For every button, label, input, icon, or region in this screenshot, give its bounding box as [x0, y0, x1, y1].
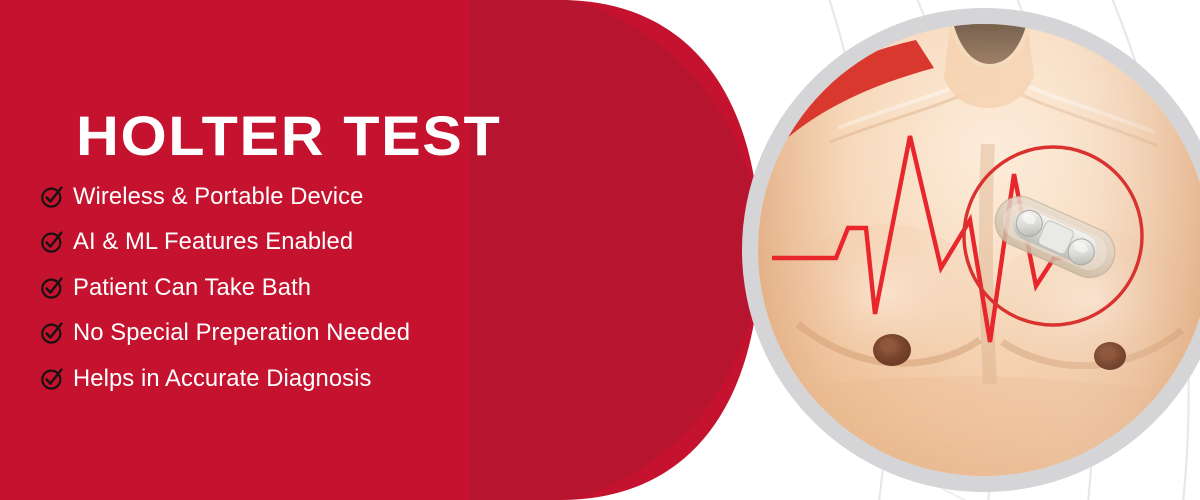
list-item-label: Patient Can Take Bath — [73, 274, 311, 302]
list-item: AI & ML Features Enabled — [40, 220, 600, 266]
check-circle-icon — [40, 185, 64, 209]
patient-photo — [758, 24, 1200, 476]
benefits-list: Wireless & Portable Device AI & ML Featu… — [40, 174, 600, 402]
list-item-label: No Special Preperation Needed — [73, 319, 410, 347]
holter-test-banner: HOLTER TEST Wireless & Portable Device A… — [0, 0, 1200, 500]
check-circle-icon — [40, 276, 64, 300]
check-circle-icon — [40, 230, 64, 254]
list-item: Wireless & Portable Device — [40, 174, 600, 220]
patient-photo-illustration — [758, 24, 1200, 476]
check-circle-icon — [40, 367, 64, 391]
list-item-label: Wireless & Portable Device — [73, 183, 363, 211]
list-item-label: Helps in Accurate Diagnosis — [73, 365, 372, 393]
banner-content: HOLTER TEST Wireless & Portable Device A… — [0, 0, 620, 500]
list-item: Patient Can Take Bath — [40, 265, 600, 311]
list-item: Helps in Accurate Diagnosis — [40, 356, 600, 402]
page-title: HOLTER TEST — [76, 108, 501, 164]
list-item-label: AI & ML Features Enabled — [73, 228, 353, 256]
check-circle-icon — [40, 321, 64, 345]
list-item: No Special Preperation Needed — [40, 311, 600, 357]
